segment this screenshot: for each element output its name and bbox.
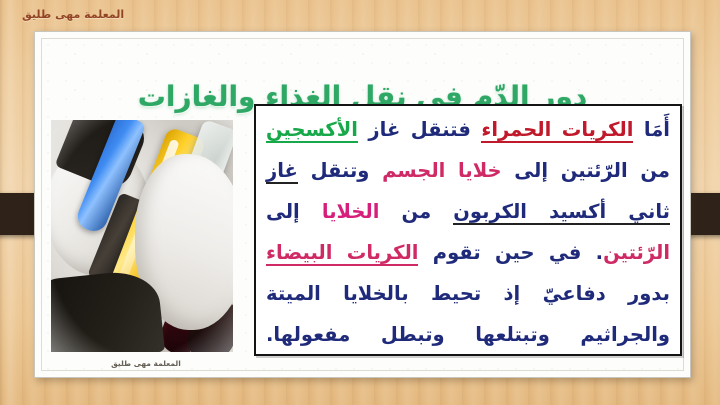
paragraph-segment: أَمَا — [633, 118, 670, 141]
paragraph-segment: . في حين تقوم — [418, 241, 603, 264]
paragraph-segment: الكريات البيضاء — [266, 241, 418, 266]
lesson-paragraph: أَمَا الكريات الحمراء فتنقل غاز الأكسجين… — [266, 109, 670, 355]
teacher-name-watermark: المعلمة مهى طليق — [22, 8, 124, 21]
paragraph-segment: وتنقل — [298, 159, 382, 182]
paragraph-segment: إلى — [502, 159, 561, 182]
paragraph-segment: فتنقل غاز — [358, 118, 481, 141]
paragraph-segment: الرّئتين — [603, 241, 670, 264]
paragraph-segment: الخلايا — [322, 200, 380, 223]
lesson-text-box: أَمَا الكريات الحمراء فتنقل غاز الأكسجين… — [254, 104, 682, 356]
figure-blood-samples: المعلمة مهى طليق — [51, 120, 241, 370]
paragraph-segment: إلى — [266, 200, 322, 223]
paragraph-segment: من — [628, 159, 670, 182]
paragraph-segment: الأكسجين — [266, 118, 358, 143]
worksheet-page: دور الدّم في نقل الغذاء والغازات المعلمة… — [34, 31, 691, 378]
paragraph-segment: بدور دفاعيّ إذ تحيط بالخلايا الميتة والج… — [266, 282, 670, 346]
blood-sample-test-tubes-photo — [51, 120, 233, 352]
paragraph-segment: من — [379, 200, 453, 223]
paragraph-segment: الرّئتين — [561, 159, 628, 182]
worksheet-scene: المعلمة مهى طليق دور الدّم في نقل الغذاء… — [0, 0, 720, 405]
paragraph-segment: خلايا الجسم — [382, 159, 501, 182]
paragraph-segment: الكريات الحمراء — [481, 118, 633, 143]
figure-caption: المعلمة مهى طليق — [51, 359, 241, 368]
